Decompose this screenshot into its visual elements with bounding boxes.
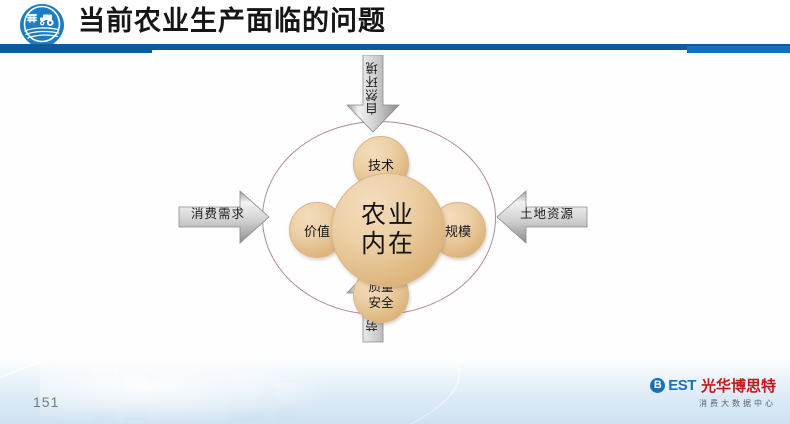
arrow-consumer-demand: 消费需求 bbox=[178, 189, 270, 245]
arrow-label-natural-environment: 自然环境 bbox=[363, 61, 382, 115]
slide-footer: 151 B EST 光华博思特 消费大数据中心 bbox=[0, 357, 790, 424]
bubble-agriculture-core: 农业 内在 bbox=[331, 173, 445, 287]
bubble-center-line2: 内在 bbox=[361, 230, 415, 259]
brand-logo: B EST 光华博思特 消费大数据中心 bbox=[650, 375, 776, 409]
page-title: 当前农业生产面临的问题 bbox=[78, 3, 386, 40]
divider-segment-left bbox=[0, 46, 152, 53]
bubble-quality-safety-line2: 安全 bbox=[368, 295, 393, 311]
divider-segment-right bbox=[687, 46, 790, 53]
bubble-value-label: 价值 bbox=[304, 221, 330, 240]
header-divider bbox=[0, 44, 790, 55]
bubble-center-line1: 农业 bbox=[361, 201, 415, 230]
slide: 当前农业生产面临的问题 自然环境 bbox=[0, 0, 790, 424]
slide-header: 当前农业生产面临的问题 bbox=[0, 0, 790, 44]
brand-badge-icon: B bbox=[650, 378, 665, 393]
bubble-scale-label: 规模 bbox=[445, 221, 471, 240]
bubble-technology-label: 技术 bbox=[368, 155, 394, 174]
arrow-label-land-resources: 土地资源 bbox=[520, 203, 574, 222]
footer-swoosh bbox=[0, 357, 469, 424]
arrow-label-consumer-demand: 消费需求 bbox=[191, 203, 245, 222]
divider-segment-middle bbox=[152, 46, 687, 50]
arrow-land-resources: 土地资源 bbox=[496, 189, 588, 245]
brand-name: EST bbox=[668, 377, 696, 394]
brand-subtitle: 消费大数据中心 bbox=[650, 398, 776, 409]
arrow-natural-environment: 自然环境 bbox=[345, 55, 401, 133]
brand-name-cn: 光华博思特 bbox=[701, 375, 776, 396]
diagram-canvas: 自然环境 劳动力 bbox=[0, 55, 790, 357]
page-number: 151 bbox=[33, 394, 59, 410]
